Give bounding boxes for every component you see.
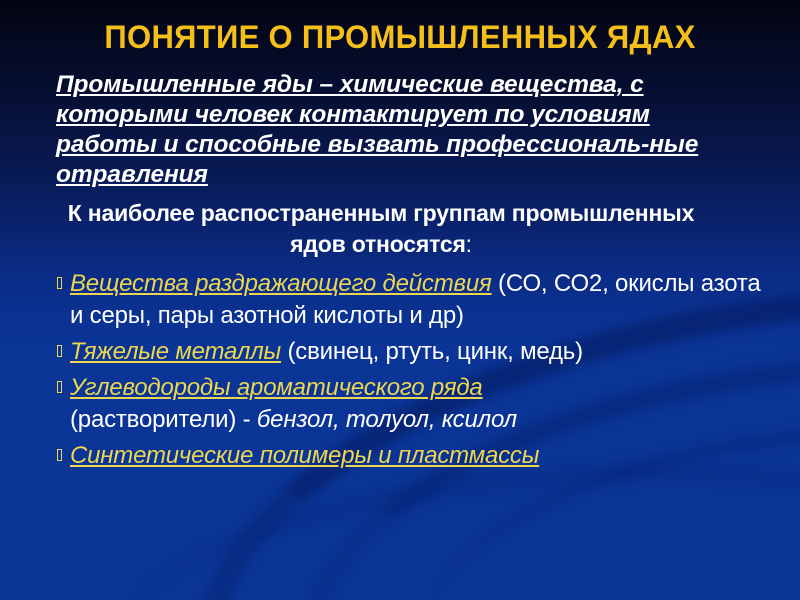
group-term: Синтетические полимеры и пластмассы bbox=[70, 442, 539, 469]
box-bullet-icon bbox=[57, 449, 62, 461]
presentation-slide: ПОНЯТИЕ О ПРОМЫШЛЕННЫХ ЯДАХ Промышленные… bbox=[0, 0, 800, 600]
group-term: Вещества раздражающего действия bbox=[70, 270, 492, 297]
list-item: Синтетические полимеры и пластмассы bbox=[56, 440, 762, 472]
list-item: Вещества раздражающего действия (СО, СО2… bbox=[56, 268, 762, 332]
list-item: Углеводороды ароматического ряда(раствор… bbox=[56, 372, 762, 436]
box-bullet-icon bbox=[57, 381, 62, 393]
group-term: Тяжелые металлы bbox=[70, 338, 281, 365]
box-bullet-icon bbox=[57, 277, 62, 289]
group-detail-examples: бензол, толуол, ксилол bbox=[257, 406, 517, 433]
lead-in-colon: : bbox=[466, 231, 472, 257]
lead-in-text: К наиболее распостраненным группам промы… bbox=[68, 200, 694, 257]
list-item: Тяжелые металлы (свинец, ртуть, цинк, ме… bbox=[56, 336, 762, 368]
poison-groups-list: Вещества раздражающего действия (СО, СО2… bbox=[56, 268, 762, 472]
lead-in-paragraph: К наиболее распостраненным группам промы… bbox=[56, 198, 762, 260]
group-detail: (свинец, ртуть, цинк, медь) bbox=[281, 338, 583, 365]
box-bullet-icon bbox=[57, 345, 62, 357]
definition-paragraph: Промышленные яды – химические вещества, … bbox=[56, 70, 756, 190]
group-term: Углеводороды ароматического ряда bbox=[70, 374, 483, 401]
group-detail: (растворители) - bbox=[70, 406, 257, 433]
slide-title: ПОНЯТИЕ О ПРОМЫШЛЕННЫХ ЯДАХ bbox=[12, 19, 788, 55]
slide-body: Промышленные яды – химические вещества, … bbox=[56, 70, 762, 476]
